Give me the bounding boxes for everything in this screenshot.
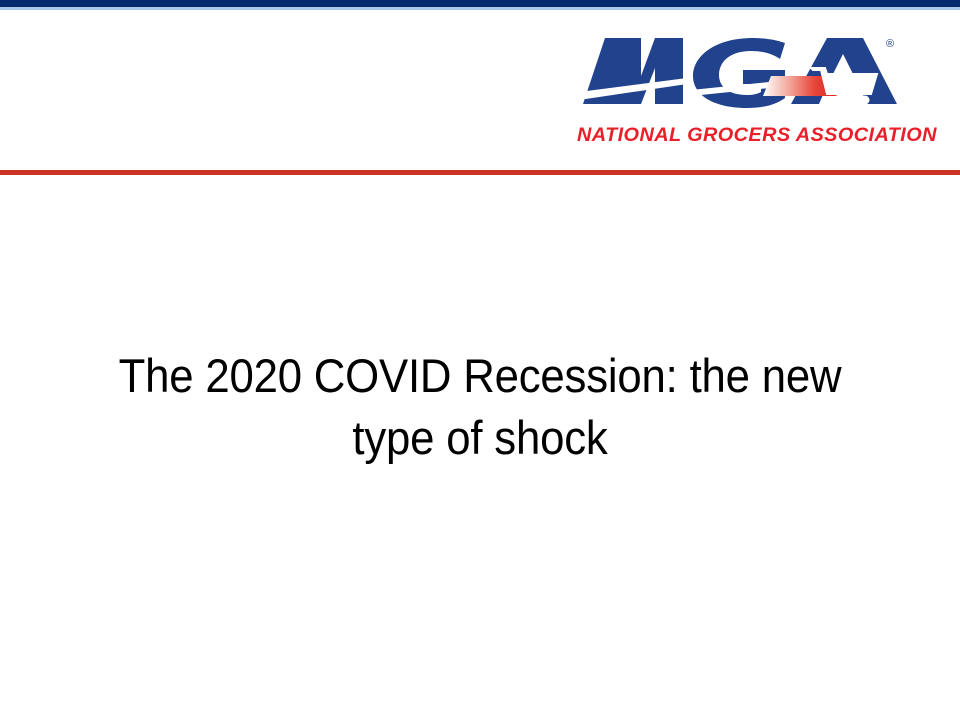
slide-title-line-1: The 2020 COVID Recession: the new (89, 345, 870, 407)
nga-logo-mark (575, 32, 907, 127)
nga-logo: ® NATIONAL GROCERS ASSOCIATION (575, 32, 907, 152)
slide-title: The 2020 COVID Recession: the new type o… (60, 345, 900, 469)
header-band: ® NATIONAL GROCERS ASSOCIATION (0, 10, 960, 172)
logo-letter-g (691, 38, 789, 108)
slide-title-line-2: type of shock (89, 407, 870, 469)
slide-canvas: { "slide": { "background_color": "#FFFFF… (0, 0, 960, 720)
top-navy-bar (0, 0, 960, 7)
registered-trademark-icon: ® (886, 38, 894, 50)
logo-letter-n (579, 38, 687, 104)
slide-body: The 2020 COVID Recession: the new type o… (0, 175, 960, 720)
nga-wordmark: NATIONAL GROCERS ASSOCIATION (577, 124, 912, 147)
